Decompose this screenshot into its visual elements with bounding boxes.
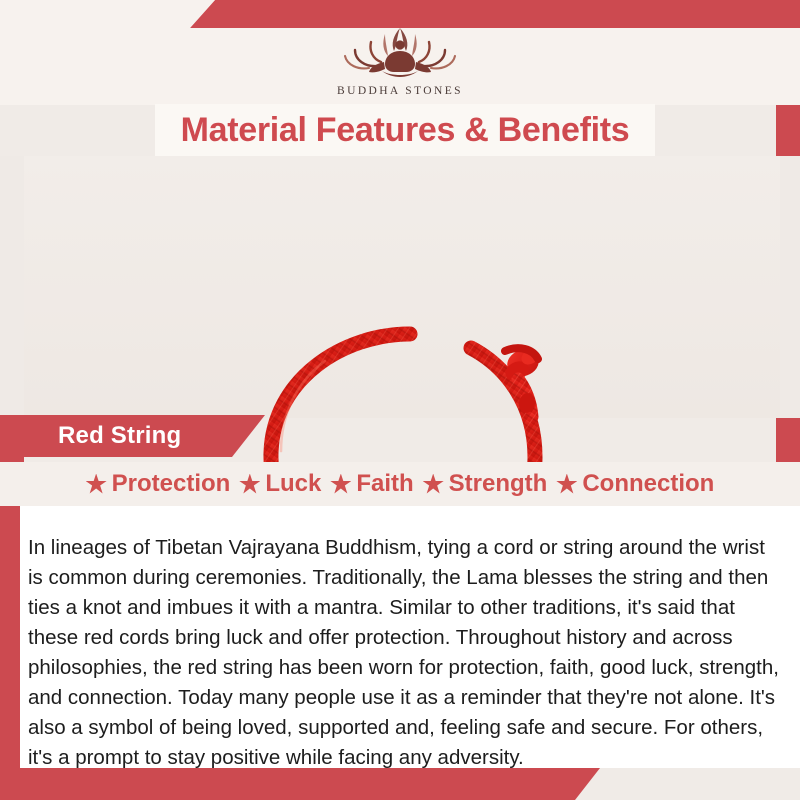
benefit-item: Faith bbox=[330, 470, 413, 498]
product-photo-area bbox=[0, 156, 800, 418]
infographic-page: BUDDHA STONES Material Features & Benefi… bbox=[0, 0, 800, 800]
benefit-label: Protection bbox=[112, 470, 231, 498]
star-icon bbox=[556, 474, 577, 495]
decorative-bottom-band bbox=[0, 768, 640, 800]
section-ribbon-label: Red String bbox=[58, 422, 181, 450]
section-ribbon: Red String bbox=[0, 415, 265, 457]
star-icon bbox=[86, 474, 107, 495]
description-text: In lineages of Tibetan Vajrayana Buddhis… bbox=[28, 533, 780, 773]
page-title: Material Features & Benefits bbox=[181, 111, 630, 150]
benefit-label: Luck bbox=[265, 470, 321, 498]
benefit-item: Connection bbox=[556, 470, 714, 498]
benefit-label: Strength bbox=[449, 470, 548, 498]
star-icon bbox=[239, 474, 260, 495]
lotus-meditation-icon bbox=[325, 18, 475, 82]
benefit-item: Protection bbox=[86, 470, 231, 498]
star-icon bbox=[330, 474, 351, 495]
benefits-row: Protection Luck Faith Strength Connectio… bbox=[0, 462, 800, 506]
brand-logo: BUDDHA STONES bbox=[0, 18, 800, 97]
benefit-item: Luck bbox=[239, 470, 321, 498]
benefit-label: Connection bbox=[582, 470, 714, 498]
description-panel: In lineages of Tibetan Vajrayana Buddhis… bbox=[20, 506, 800, 768]
star-icon bbox=[423, 474, 444, 495]
brand-name: BUDDHA STONES bbox=[337, 85, 463, 97]
title-plaque: Material Features & Benefits bbox=[155, 104, 655, 156]
benefit-item: Strength bbox=[423, 470, 548, 498]
benefit-label: Faith bbox=[356, 470, 413, 498]
